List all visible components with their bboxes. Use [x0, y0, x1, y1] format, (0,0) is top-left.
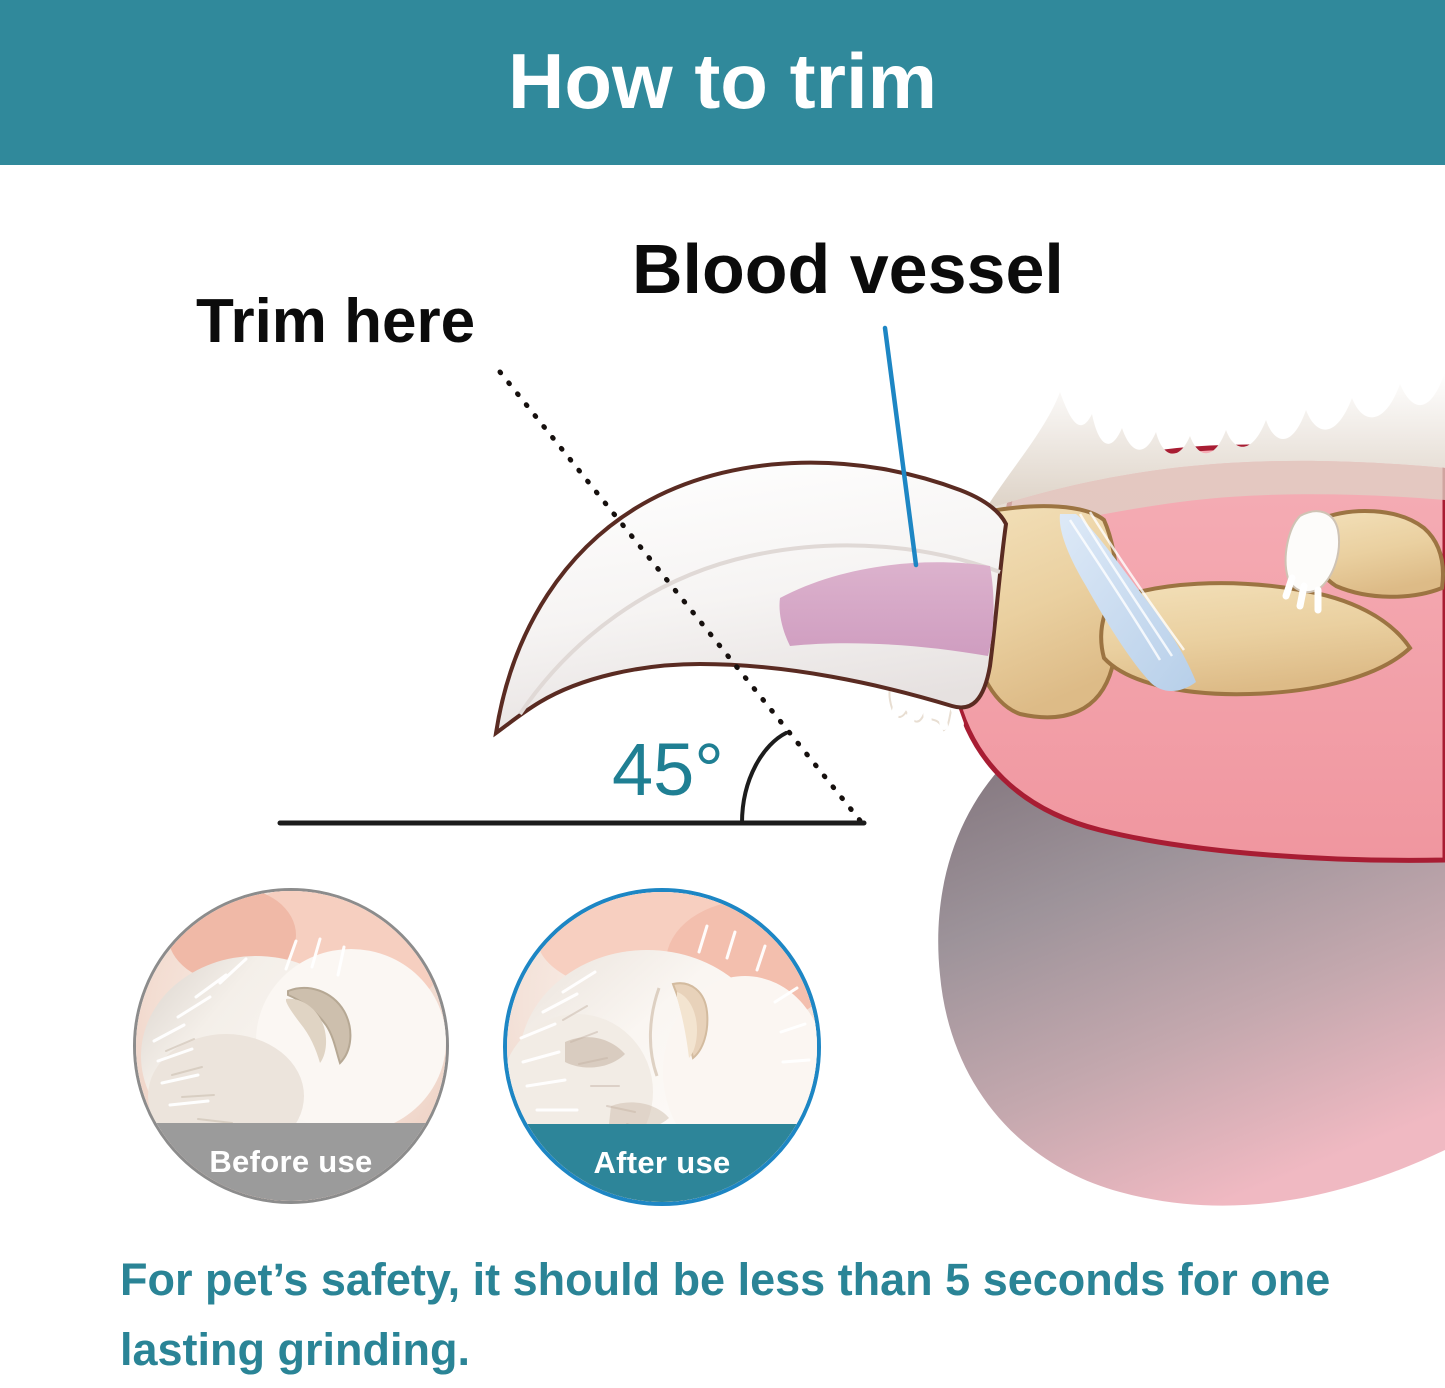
safety-note: For pet’s safety, it should be less than…: [120, 1245, 1370, 1385]
blood-vessel-pointer: [885, 328, 916, 565]
toe-bones: [968, 506, 1443, 717]
angle-label: 45°: [612, 733, 724, 807]
comparison-photo-after: After use: [503, 888, 821, 1206]
tendon: [1060, 512, 1196, 691]
caption-before-use: Before use: [136, 1123, 446, 1201]
toe-flesh: [955, 447, 1445, 861]
angle-arc: [742, 733, 786, 823]
paw-pad: [938, 690, 1445, 1206]
claw-base-fur: [889, 675, 960, 730]
page-title: How to trim: [508, 42, 937, 120]
header-banner: How to trim: [0, 0, 1445, 165]
toe-fur: [985, 372, 1445, 546]
infographic-page: How to trim: [0, 0, 1445, 1388]
claw: [496, 463, 1006, 733]
caption-after-use: After use: [507, 1124, 817, 1202]
label-blood-vessel: Blood vessel: [632, 234, 1064, 304]
label-trim-here: Trim here: [196, 291, 475, 353]
comparison-photo-before: Before use: [133, 888, 449, 1204]
